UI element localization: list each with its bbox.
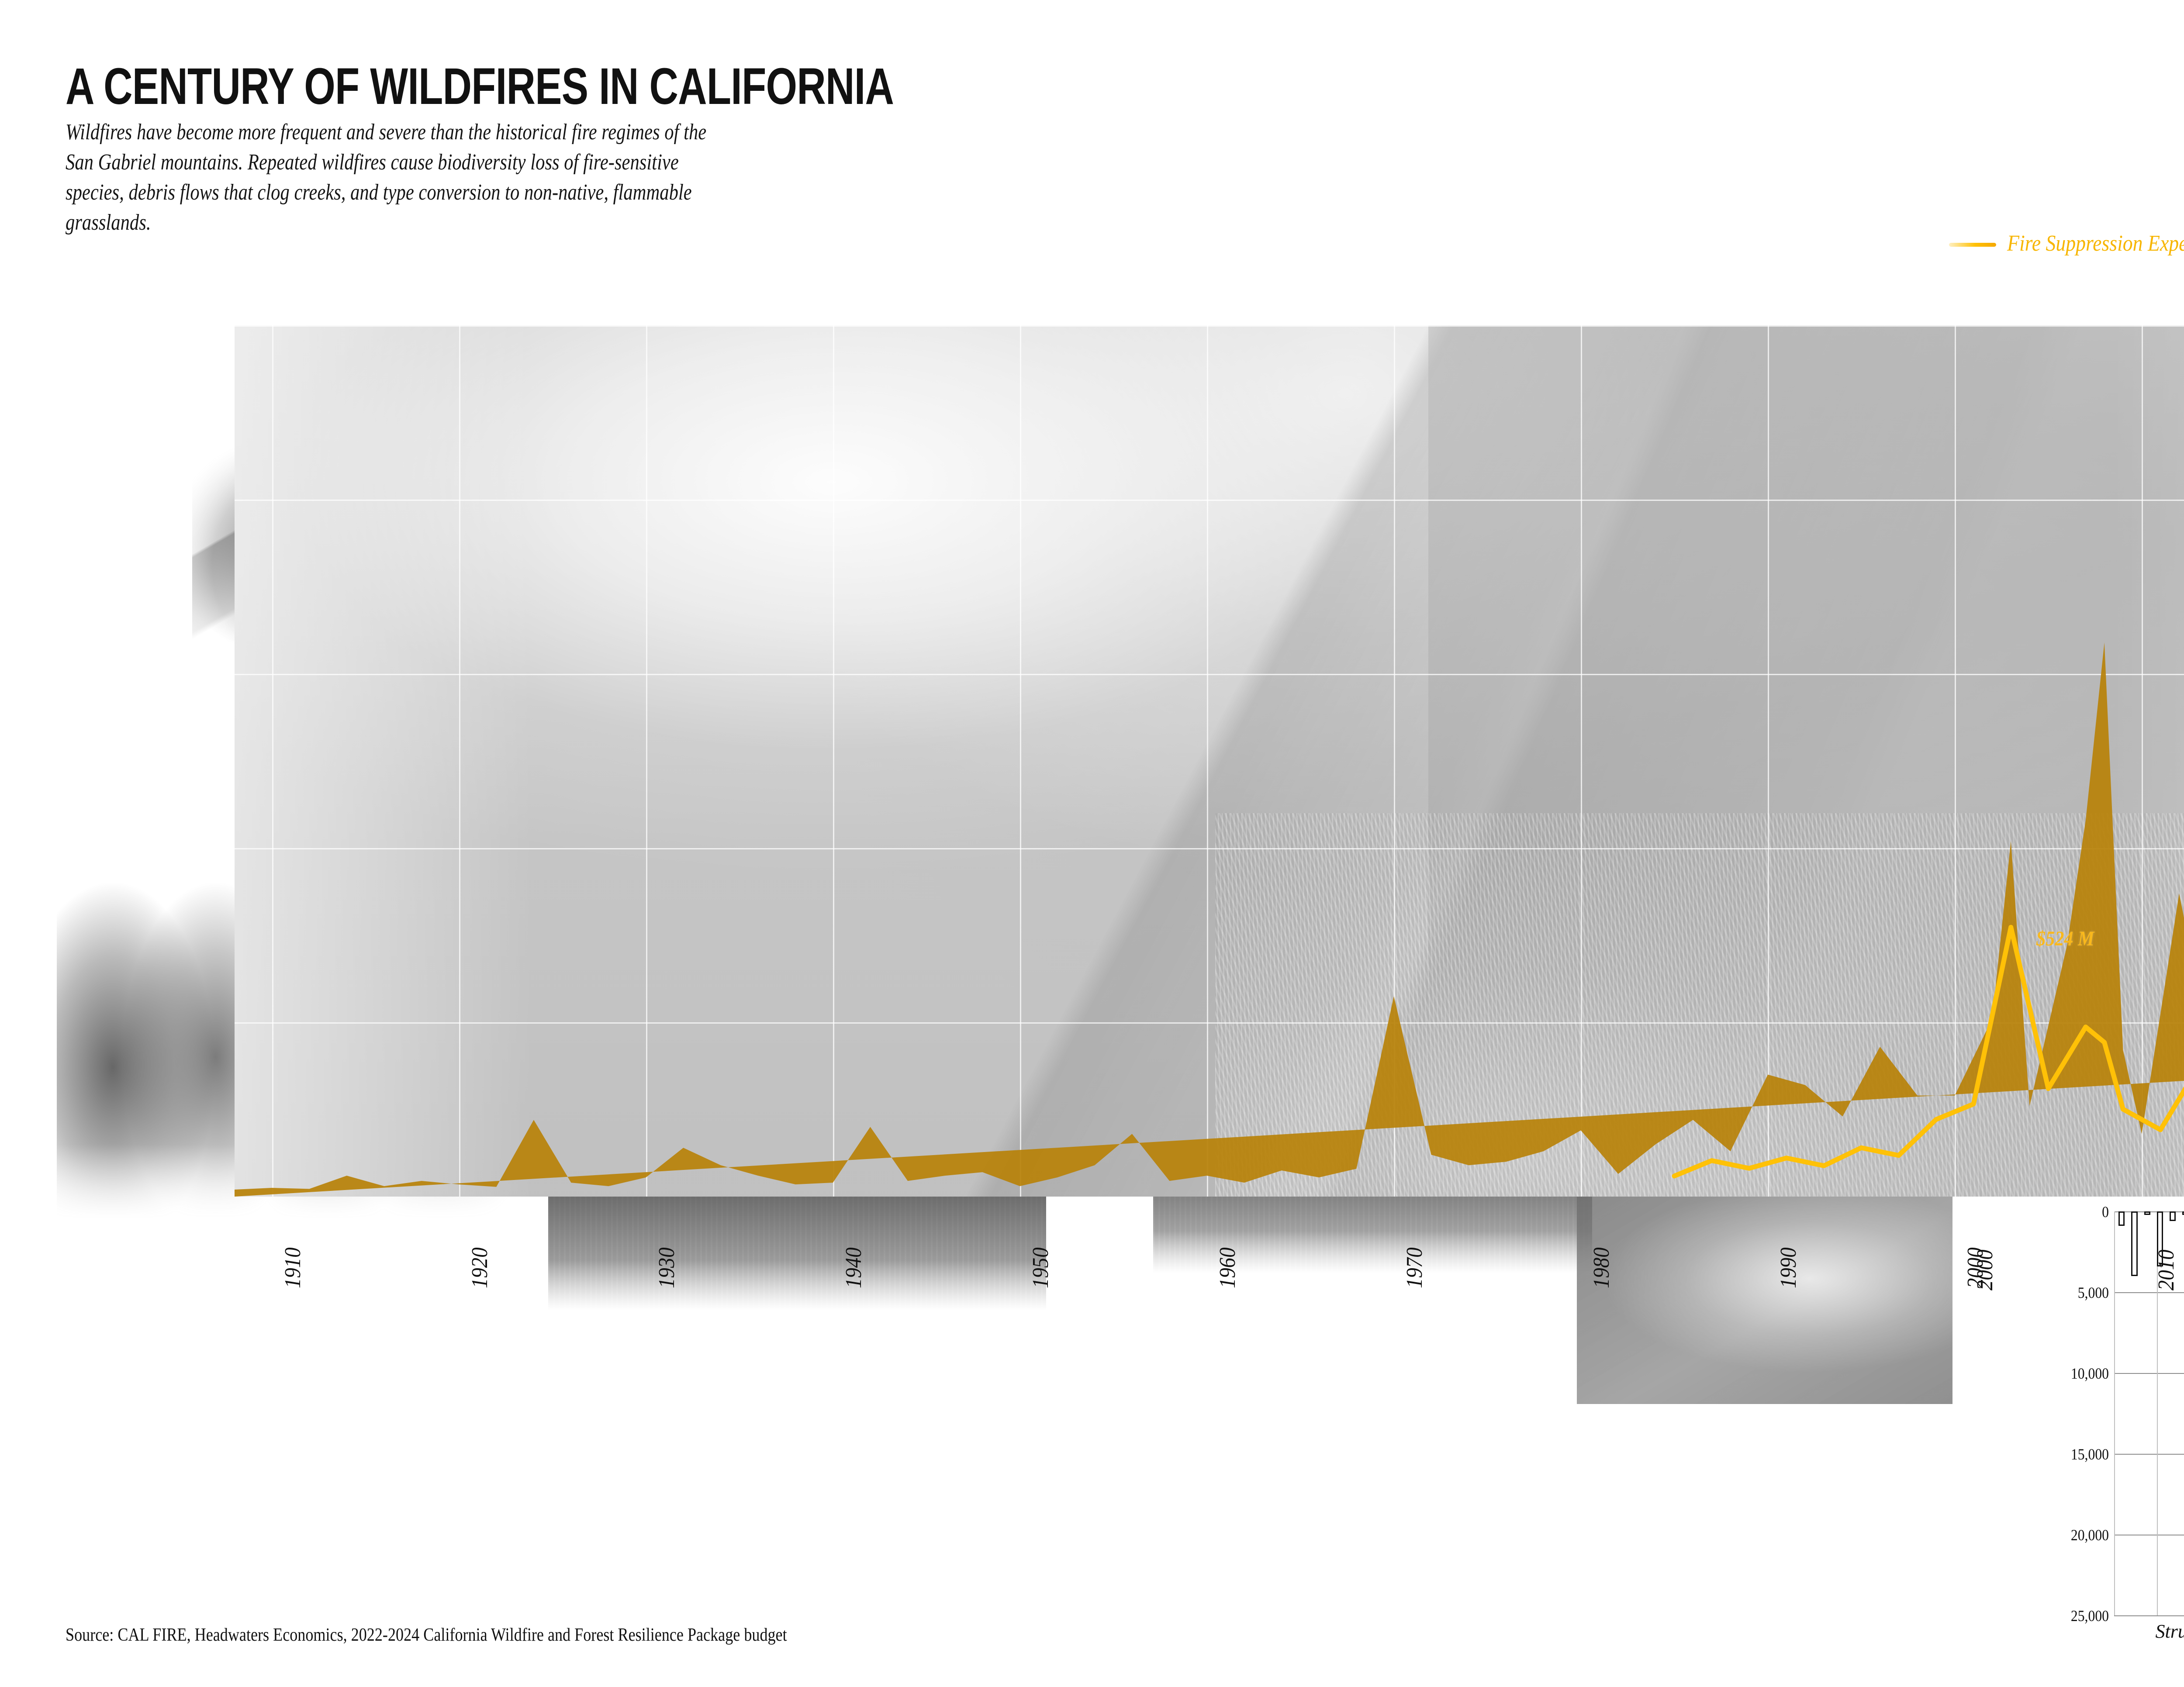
x-axis-tick-label: 1990 <box>1776 1247 1801 1288</box>
structures-lost-bar <box>2170 1211 2176 1221</box>
acres-burned-chart <box>235 325 2184 1197</box>
acres-burned-series <box>235 325 2184 1197</box>
structures-lost-bar <box>2118 1211 2125 1226</box>
intro-paragraph: Wildfires have become more frequent and … <box>66 117 721 238</box>
callout-524m: $524 M <box>2036 927 2094 951</box>
structures-y-tick-label: 15,000 <box>2071 1445 2109 1463</box>
creek-debris-photo <box>1577 1194 1952 1404</box>
x-axis-tick-label: 1960 <box>1215 1247 1241 1288</box>
x-axis-tick-label: 1950 <box>1028 1247 1054 1288</box>
x-axis-tick-label: 1970 <box>1402 1247 1427 1288</box>
structures-lost-bar <box>2144 1211 2150 1215</box>
expenditure-legend-swatch <box>1949 243 1996 247</box>
structures-gridline-horizontal <box>2114 1373 2184 1374</box>
x-axis-tick-label: 1920 <box>467 1247 493 1288</box>
structures-lost-bar <box>2182 1211 2184 1215</box>
x-axis-tick-label: 1910 <box>280 1247 306 1288</box>
structures-y-tick-label: 5,000 <box>2078 1283 2109 1302</box>
x-axis-tick-label: 1980 <box>1589 1247 1614 1288</box>
structures-lost-bar <box>2131 1211 2137 1276</box>
x-axis-tick-label: 1930 <box>654 1247 680 1288</box>
structures-y-tick-label: 20,000 <box>2071 1526 2109 1544</box>
structures-gridline-vertical <box>2114 1211 2115 1615</box>
structures-y-tick-label: 0 <box>2102 1203 2109 1221</box>
x-axis-tick-label: 2010 <box>2153 1249 2179 1290</box>
expenditure-legend-label: Fire Suppression Expenditure <box>2007 231 2184 256</box>
source-citation: Source: CAL FIRE, Headwaters Economics, … <box>66 1625 787 1646</box>
x-axis-tick-label: 2000 <box>1972 1249 1998 1290</box>
x-axis-tick-label: 1940 <box>841 1247 867 1288</box>
left-panel: A CENTURY OF WILDFIRES IN CALIFORNIA Wil… <box>0 0 2184 1687</box>
structures-gridline-horizontal <box>2114 1292 2184 1293</box>
structures-lost-title: Structures Lost <box>2057 1620 2184 1642</box>
structures-y-tick-label: 10,000 <box>2071 1364 2109 1383</box>
structures-gridline-horizontal <box>2114 1535 2184 1535</box>
structures-gridline-horizontal <box>2114 1615 2184 1616</box>
structures-gridline-horizontal <box>2114 1454 2184 1455</box>
page-title: A CENTURY OF WILDFIRES IN CALIFORNIA <box>66 57 894 116</box>
